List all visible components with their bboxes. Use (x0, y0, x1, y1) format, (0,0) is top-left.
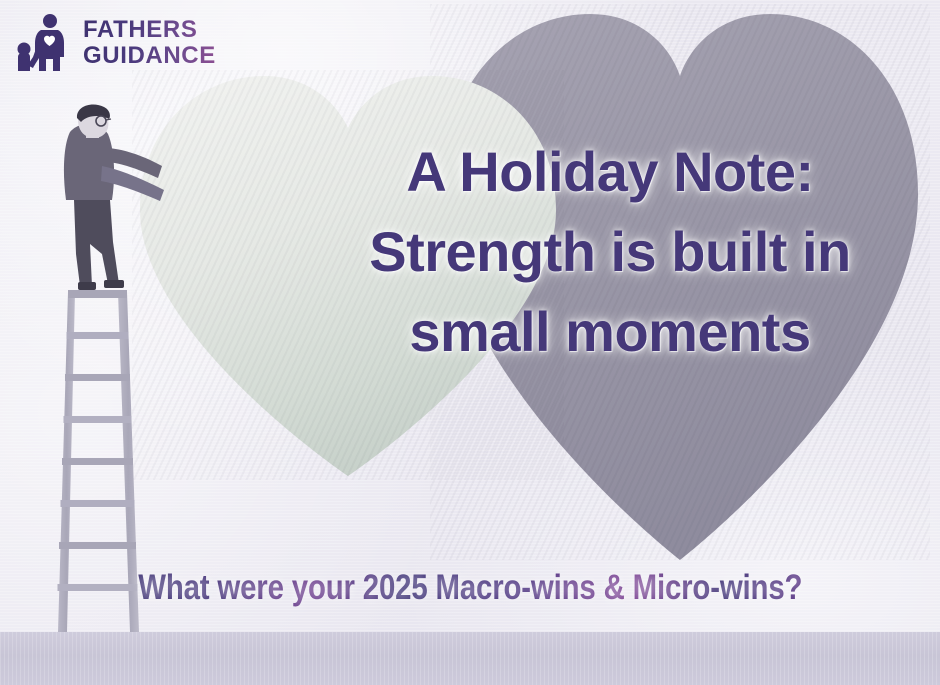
page-title: A Holiday Note: Strength is built in sma… (300, 132, 920, 372)
brand-logo[interactable]: FATHERS GUIDANCE (16, 10, 216, 76)
brand-name: FATHERS GUIDANCE (83, 18, 216, 68)
question-prompt: What were your 2025 Macro-wins & Micro-w… (0, 566, 940, 610)
headline-line-3: small moments (300, 292, 920, 372)
father-and-child-with-heart-icon (16, 13, 74, 73)
question-text: What were your 2025 Macro-wins & Micro-w… (138, 566, 802, 610)
brand-name-line1: FATHERS (83, 18, 216, 42)
man-on-ladder-icon (18, 104, 178, 644)
man-figure-icon (64, 104, 164, 290)
ground-strip (0, 632, 940, 685)
headline-line-1: A Holiday Note: (300, 132, 920, 212)
headline-line-2: Strength is built in (300, 212, 920, 292)
brand-name-line2: GUIDANCE (83, 44, 216, 68)
poster-canvas: FATHERS GUIDANCE A Holiday Note: Strengt… (0, 0, 940, 685)
